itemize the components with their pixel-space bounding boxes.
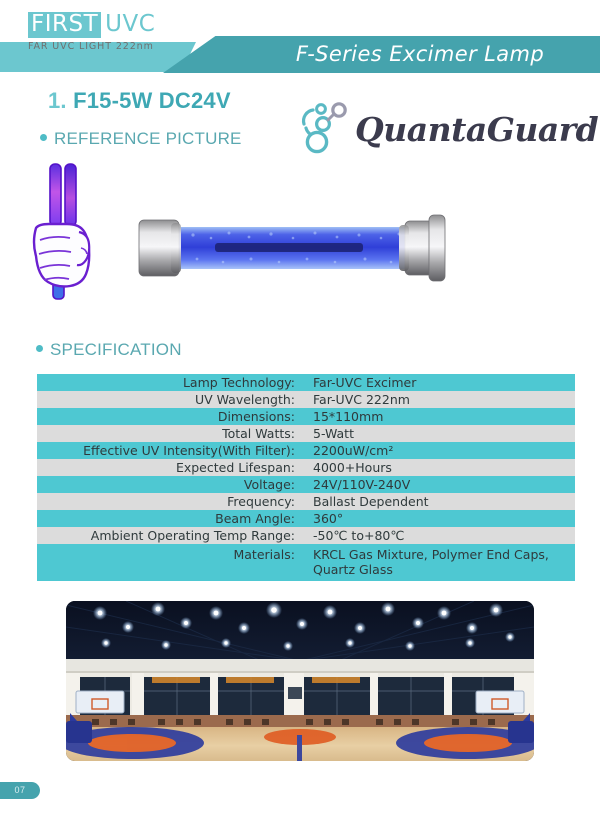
- quantaguard-logo: QuantaGuard: [297, 100, 572, 156]
- quantaguard-wordmark: QuantaGuard: [355, 110, 598, 149]
- spec-row-value: Ballast Dependent: [305, 493, 575, 510]
- spec-row-value: Far-UVC 222nm: [305, 391, 575, 408]
- spec-row-key: Beam Angle:: [37, 510, 305, 527]
- specification-table-body: Lamp Technology:Far-UVC ExcimerUV Wavele…: [37, 374, 575, 581]
- spec-row-value: 360°: [305, 510, 575, 527]
- spec-row: Effective UV Intensity(With Filter):2200…: [37, 442, 575, 459]
- spec-row-value: 5-Watt: [305, 425, 575, 442]
- logo-wordmark: FIRST UVC: [28, 12, 155, 38]
- reference-picture-heading: REFERENCE PICTURE: [40, 129, 242, 149]
- spec-row-value: 15*110mm: [305, 408, 575, 425]
- spec-row: Beam Angle:360°: [37, 510, 575, 527]
- spec-row-key: UV Wavelength:: [37, 391, 305, 408]
- first-uvc-logo: FIRST UVC FAR UVC LIGHT 222nm: [28, 12, 155, 52]
- logo-uvc-text: UVC: [101, 13, 155, 36]
- logo-first-text: FIRST: [28, 12, 101, 38]
- spec-row-key: Voltage:: [37, 476, 305, 493]
- bullet-icon: [36, 345, 43, 352]
- spec-row-key: Materials:: [37, 544, 305, 581]
- spec-row: Expected Lifespan:4000+Hours: [37, 459, 575, 476]
- spec-row: Voltage:24V/110V-240V: [37, 476, 575, 493]
- specification-table: Lamp Technology:Far-UVC ExcimerUV Wavele…: [37, 374, 575, 581]
- gymnasium-photo: [66, 601, 534, 761]
- spec-row-value: Far-UVC Excimer: [305, 374, 575, 391]
- spec-row-key: Effective UV Intensity(With Filter):: [37, 442, 305, 459]
- spec-row-value: 2200uW/cm²: [305, 442, 575, 459]
- spec-row-key: Expected Lifespan:: [37, 459, 305, 476]
- bullet-icon: [40, 134, 47, 141]
- spec-row: Lamp Technology:Far-UVC Excimer: [37, 374, 575, 391]
- spec-row-value: KRCL Gas Mixture, Polymer End Caps, Quar…: [305, 544, 575, 581]
- hand-with-uv-tubes-illustration: [24, 160, 134, 320]
- spec-row: Ambient Operating Temp Range:-50℃ to+80℃: [37, 527, 575, 544]
- spec-row-key: Total Watts:: [37, 425, 305, 442]
- reference-picture-label: REFERENCE PICTURE: [54, 129, 242, 148]
- page-header: F-Series Excimer Lamp FIRST UVC FAR UVC …: [0, 0, 600, 82]
- product-number: 1.: [48, 88, 67, 113]
- spec-row-key: Lamp Technology:: [37, 374, 305, 391]
- spec-row: Dimensions:15*110mm: [37, 408, 575, 425]
- specification-label: SPECIFICATION: [50, 340, 182, 359]
- spec-row: Frequency:Ballast Dependent: [37, 493, 575, 510]
- spec-row-key: Dimensions:: [37, 408, 305, 425]
- spec-row-key: Ambient Operating Temp Range:: [37, 527, 305, 544]
- spec-row-value: 24V/110V-240V: [305, 476, 575, 493]
- bubbles-icon: [297, 100, 359, 156]
- page-number-badge: 07: [0, 782, 40, 799]
- logo-tagline: FAR UVC LIGHT 222nm: [28, 41, 155, 52]
- spec-row: Materials:KRCL Gas Mixture, Polymer End …: [37, 544, 575, 581]
- header-title: F-Series Excimer Lamp: [255, 42, 585, 66]
- spec-row-key: Frequency:: [37, 493, 305, 510]
- product-title: 1. F15-5W DC24V: [48, 88, 231, 114]
- specification-heading: SPECIFICATION: [36, 340, 182, 360]
- product-title-text: F15-5W DC24V: [73, 88, 231, 113]
- spec-row-value: -50℃ to+80℃: [305, 527, 575, 544]
- lamp-product-photo: [133, 207, 453, 287]
- spec-row: Total Watts:5-Watt: [37, 425, 575, 442]
- spec-row: UV Wavelength:Far-UVC 222nm: [37, 391, 575, 408]
- spec-row-value: 4000+Hours: [305, 459, 575, 476]
